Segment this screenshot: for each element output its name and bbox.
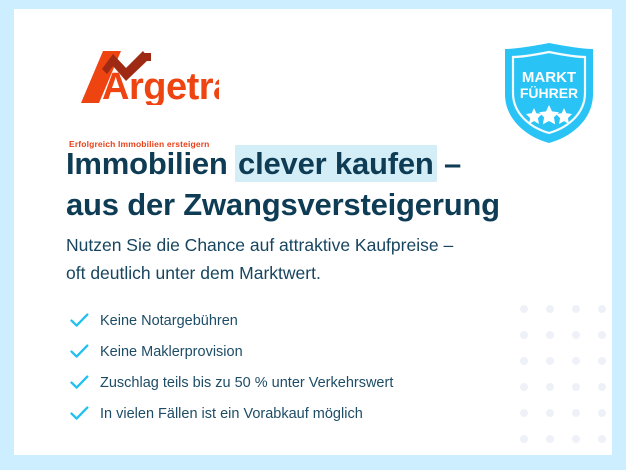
decorative-dot bbox=[572, 331, 580, 339]
decorative-dot bbox=[598, 435, 606, 443]
decorative-dot bbox=[598, 357, 606, 365]
check-icon bbox=[70, 375, 96, 390]
dot-grid-decoration bbox=[520, 305, 612, 455]
decorative-dot bbox=[520, 435, 528, 443]
decorative-dot bbox=[572, 383, 580, 391]
check-icon bbox=[70, 313, 96, 328]
benefit-label: Keine Notargebühren bbox=[96, 313, 238, 329]
promo-banner: Argetra Erfolgreich Immobilien ersteiger… bbox=[0, 0, 626, 470]
decorative-dot bbox=[572, 435, 580, 443]
decorative-dot bbox=[572, 357, 580, 365]
argetra-logo[interactable]: Argetra Erfolgreich Immobilien ersteiger… bbox=[69, 49, 219, 117]
check-icon bbox=[70, 406, 96, 421]
subheadline: Nutzen Sie die Chance auf attraktive Kau… bbox=[66, 231, 536, 288]
decorative-dot bbox=[520, 357, 528, 365]
argetra-logo-mark: Argetra bbox=[69, 49, 219, 105]
check-icon bbox=[70, 344, 96, 359]
markt-fuehrer-badge: MARKT FÜHRER bbox=[501, 42, 597, 144]
benefit-item: Zuschlag teils bis zu 50 % unter Verkehr… bbox=[70, 367, 510, 398]
shield-icon: MARKT FÜHRER bbox=[501, 42, 597, 144]
decorative-dot bbox=[572, 409, 580, 417]
decorative-dot bbox=[598, 305, 606, 313]
headline-highlight: clever kaufen bbox=[235, 145, 437, 182]
decorative-dot bbox=[546, 305, 554, 313]
decorative-dot bbox=[520, 331, 528, 339]
svg-text:Argetra: Argetra bbox=[102, 66, 219, 105]
headline-part2: – bbox=[436, 146, 461, 181]
badge-line2: FÜHRER bbox=[520, 85, 578, 101]
benefit-label: Zuschlag teils bis zu 50 % unter Verkehr… bbox=[96, 375, 393, 391]
subheadline-line1: Nutzen Sie die Chance auf attraktive Kau… bbox=[66, 231, 536, 259]
decorative-dot bbox=[546, 357, 554, 365]
decorative-dot bbox=[520, 383, 528, 391]
decorative-dot bbox=[598, 331, 606, 339]
decorative-dot bbox=[546, 383, 554, 391]
decorative-dot bbox=[520, 305, 528, 313]
decorative-dot bbox=[546, 435, 554, 443]
benefit-label: In vielen Fällen ist ein Vorabkauf mögli… bbox=[96, 406, 363, 422]
benefits-list: Keine NotargebührenKeine Maklerprovision… bbox=[70, 305, 510, 429]
decorative-dot bbox=[546, 409, 554, 417]
benefit-item: Keine Maklerprovision bbox=[70, 336, 510, 367]
banner-card: Argetra Erfolgreich Immobilien ersteiger… bbox=[14, 9, 612, 455]
headline-part1: Immobilien bbox=[66, 146, 236, 181]
subheadline-line2: oft deutlich unter dem Marktwert. bbox=[66, 259, 536, 287]
benefit-item: In vielen Fällen ist ein Vorabkauf mögli… bbox=[70, 398, 510, 429]
decorative-dot bbox=[598, 383, 606, 391]
decorative-dot bbox=[572, 305, 580, 313]
decorative-dot bbox=[546, 331, 554, 339]
page-title: Immobilien clever kaufen – aus der Zwang… bbox=[66, 143, 536, 225]
decorative-dot bbox=[520, 409, 528, 417]
benefit-label: Keine Maklerprovision bbox=[96, 344, 243, 360]
headline-line2: aus der Zwangsversteigerung bbox=[66, 184, 536, 225]
decorative-dot bbox=[598, 409, 606, 417]
benefit-item: Keine Notargebühren bbox=[70, 305, 510, 336]
badge-line1: MARKT bbox=[522, 69, 576, 86]
